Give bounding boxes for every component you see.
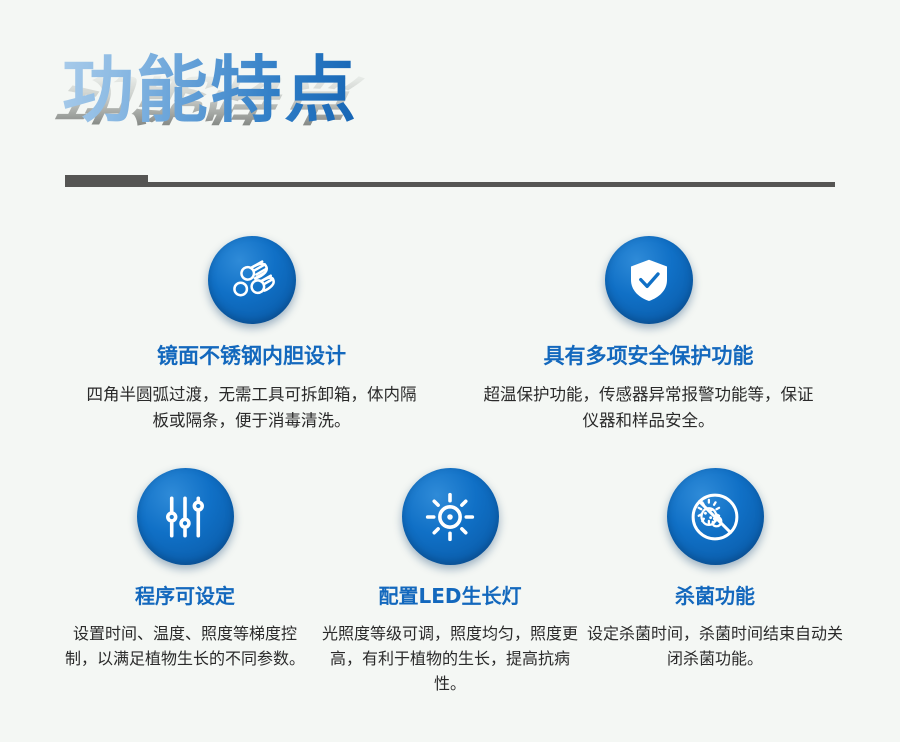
- shield-check-icon: [605, 236, 693, 324]
- divider-thin-segment: [148, 182, 835, 187]
- feature-highlights-page: 功能特点 功能特点: [0, 0, 900, 742]
- feature-description: 设置时间、温度、照度等梯度控制，以满足植物生长的不同参数。: [60, 621, 310, 671]
- no-bacteria-icon: [667, 468, 764, 565]
- divider-thick-segment: [65, 175, 148, 187]
- feature-description: 光照度等级可调，照度均匀，照度更高，有利于植物的生长，提高抗病性。: [322, 621, 578, 696]
- sliders-settings-icon: [137, 468, 234, 565]
- feature-row-bottom: 程序可设定 设置时间、温度、照度等梯度控制，以满足植物生长的不同参数。: [0, 468, 900, 696]
- feature-title: 具有多项安全保护功能: [544, 343, 754, 369]
- page-title: 功能特点: [62, 50, 358, 130]
- sun-brightness-icon: [402, 468, 499, 565]
- feature-title: 程序可设定: [135, 583, 235, 609]
- feature-description: 四角半圆弧过渡，无需工具可拆卸箱，体内隔板或隔条，便于消毒清洗。: [79, 382, 424, 434]
- feature-description: 设定杀菌时间，杀菌时间结束自动关闭杀菌功能。: [587, 621, 843, 671]
- feature-description: 超温保护功能，传感器异常报警功能等，保证仪器和样品安全。: [476, 382, 821, 434]
- header-divider: [65, 175, 835, 187]
- feature-title: 镜面不锈钢内胆设计: [157, 343, 346, 369]
- feature-card-programmable: 程序可设定 设置时间、温度、照度等梯度控制，以满足植物生长的不同参数。: [53, 468, 318, 696]
- feature-card-safety-protection: 具有多项安全保护功能 超温保护功能，传感器异常报警功能等，保证仪器和样品安全。: [450, 236, 847, 434]
- feature-title: 配置LED生长灯: [378, 583, 521, 609]
- feature-row-top: 镜面不锈钢内胆设计 四角半圆弧过渡，无需工具可拆卸箱，体内隔板或隔条，便于消毒清…: [0, 236, 900, 434]
- page-header: 功能特点 功能特点: [0, 0, 900, 200]
- feature-card-stainless-liner: 镜面不锈钢内胆设计 四角半圆弧过渡，无需工具可拆卸箱，体内隔板或隔条，便于消毒清…: [53, 236, 450, 434]
- feature-card-led-grow-light: 配置LED生长灯 光照度等级可调，照度均匀，照度更高，有利于植物的生长，提高抗病…: [318, 468, 583, 696]
- feature-card-sterilization: 杀菌功能 设定杀菌时间，杀菌时间结束自动关闭杀菌功能。: [583, 468, 848, 696]
- stacked-steel-pipes-icon: [208, 236, 296, 324]
- feature-title: 杀菌功能: [675, 583, 755, 609]
